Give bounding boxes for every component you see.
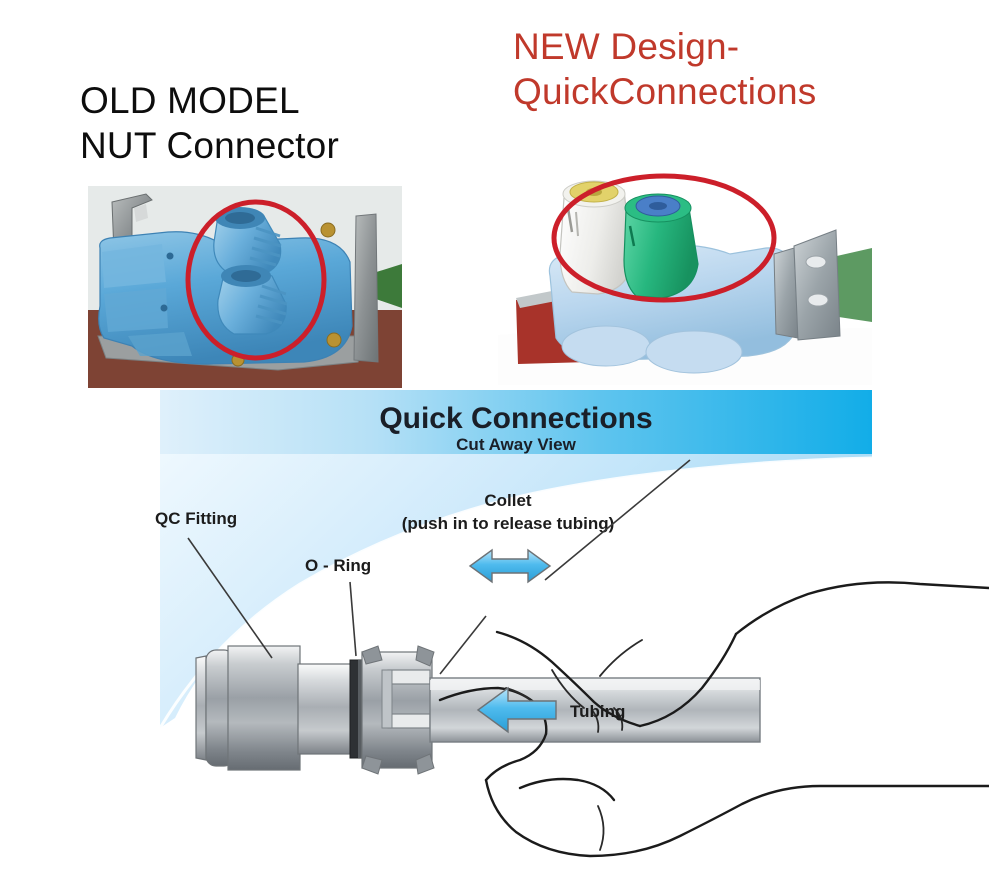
old-model-valve-photo [88, 186, 402, 388]
screw-bottom-right [327, 333, 341, 347]
label-o-ring: O - Ring [305, 556, 371, 575]
bracket-hole-bottom [808, 294, 828, 306]
body-dot-2 [161, 305, 168, 312]
collet-spine [382, 670, 392, 728]
old-model-heading: OLD MODEL NUT Connector [80, 78, 339, 168]
collet [362, 646, 434, 774]
valve-skirt-left [562, 326, 650, 366]
quick-connections-diagram: Quick Connections Cut Away View [0, 388, 989, 893]
label-collet-note: (push in to release tubing) [402, 514, 615, 533]
label-qc-fitting: QC Fitting [155, 509, 237, 528]
collet-finger-top [388, 670, 430, 684]
diagram-subtitle: Cut Away View [456, 435, 576, 454]
body-dot-1 [167, 253, 174, 260]
new-valve-illustration [498, 150, 872, 385]
diagram-title: Quick Connections [379, 402, 652, 435]
bracket-hole-top [806, 256, 826, 268]
fitting-neck [298, 664, 352, 754]
diagram-svg: Quick Connections Cut Away View [0, 388, 989, 893]
new-design-valve-photo [498, 150, 872, 385]
collet-finger-bottom [388, 714, 430, 728]
old-valve-illustration [88, 186, 402, 388]
solenoid-block-lower [104, 288, 168, 332]
label-tubing: Tubing [570, 702, 625, 721]
quick-connect-fitting-green [624, 194, 698, 298]
valve-skirt-right [646, 331, 742, 373]
fitting-end-ring [196, 656, 206, 760]
new-design-heading: NEW Design- QuickConnections [513, 24, 816, 114]
fitting-barrel-main [228, 646, 300, 770]
screw-top-right [321, 223, 335, 237]
label-collet: Collet [484, 491, 532, 510]
quick-connect-fitting-white [560, 181, 632, 294]
mount-bracket-right [354, 214, 378, 362]
